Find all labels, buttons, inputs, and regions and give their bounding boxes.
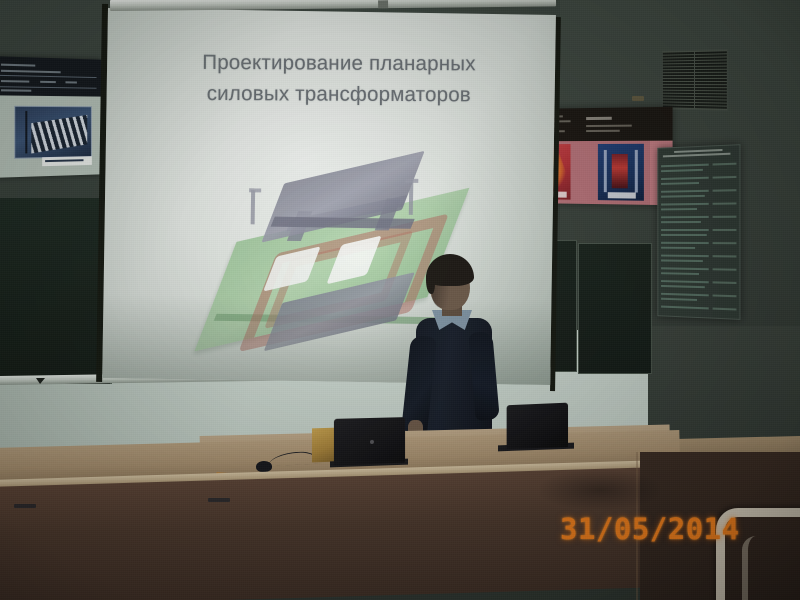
presentation-photo: Проектирование планарных силовых трансфо…: [0, 0, 800, 600]
presenter-hair-side: [426, 268, 435, 294]
poster-left-header: [0, 56, 101, 96]
chalkboard-panel-right-2: [578, 243, 652, 374]
yellow-box: [312, 428, 336, 463]
desk-fastener: [208, 498, 230, 502]
screen-bar-knob: [378, 0, 388, 8]
ceiling-vent-grille-icon: [662, 49, 728, 111]
poster-left-table: [0, 56, 101, 178]
poster-physical-constants: [657, 144, 740, 320]
chalkboard-panel-left: [0, 198, 112, 384]
laptop-left-logo-icon: [370, 440, 374, 444]
laptop-right: [507, 403, 568, 449]
foreground-chair-frame-inner: [742, 536, 800, 600]
poster-image-device: [598, 144, 644, 201]
desk-fastener: [14, 504, 36, 508]
vent-divider: [694, 51, 695, 109]
poster-left-image: [14, 106, 92, 159]
computer-mouse: [256, 461, 272, 473]
poster-left-caption: [42, 156, 92, 166]
poster-table-border: [657, 144, 740, 320]
camera-date-stamp: 31/05/2014: [560, 512, 740, 546]
laptop-left: [334, 417, 405, 465]
wall-tab: [632, 96, 644, 101]
desk-shadow: [540, 470, 660, 510]
